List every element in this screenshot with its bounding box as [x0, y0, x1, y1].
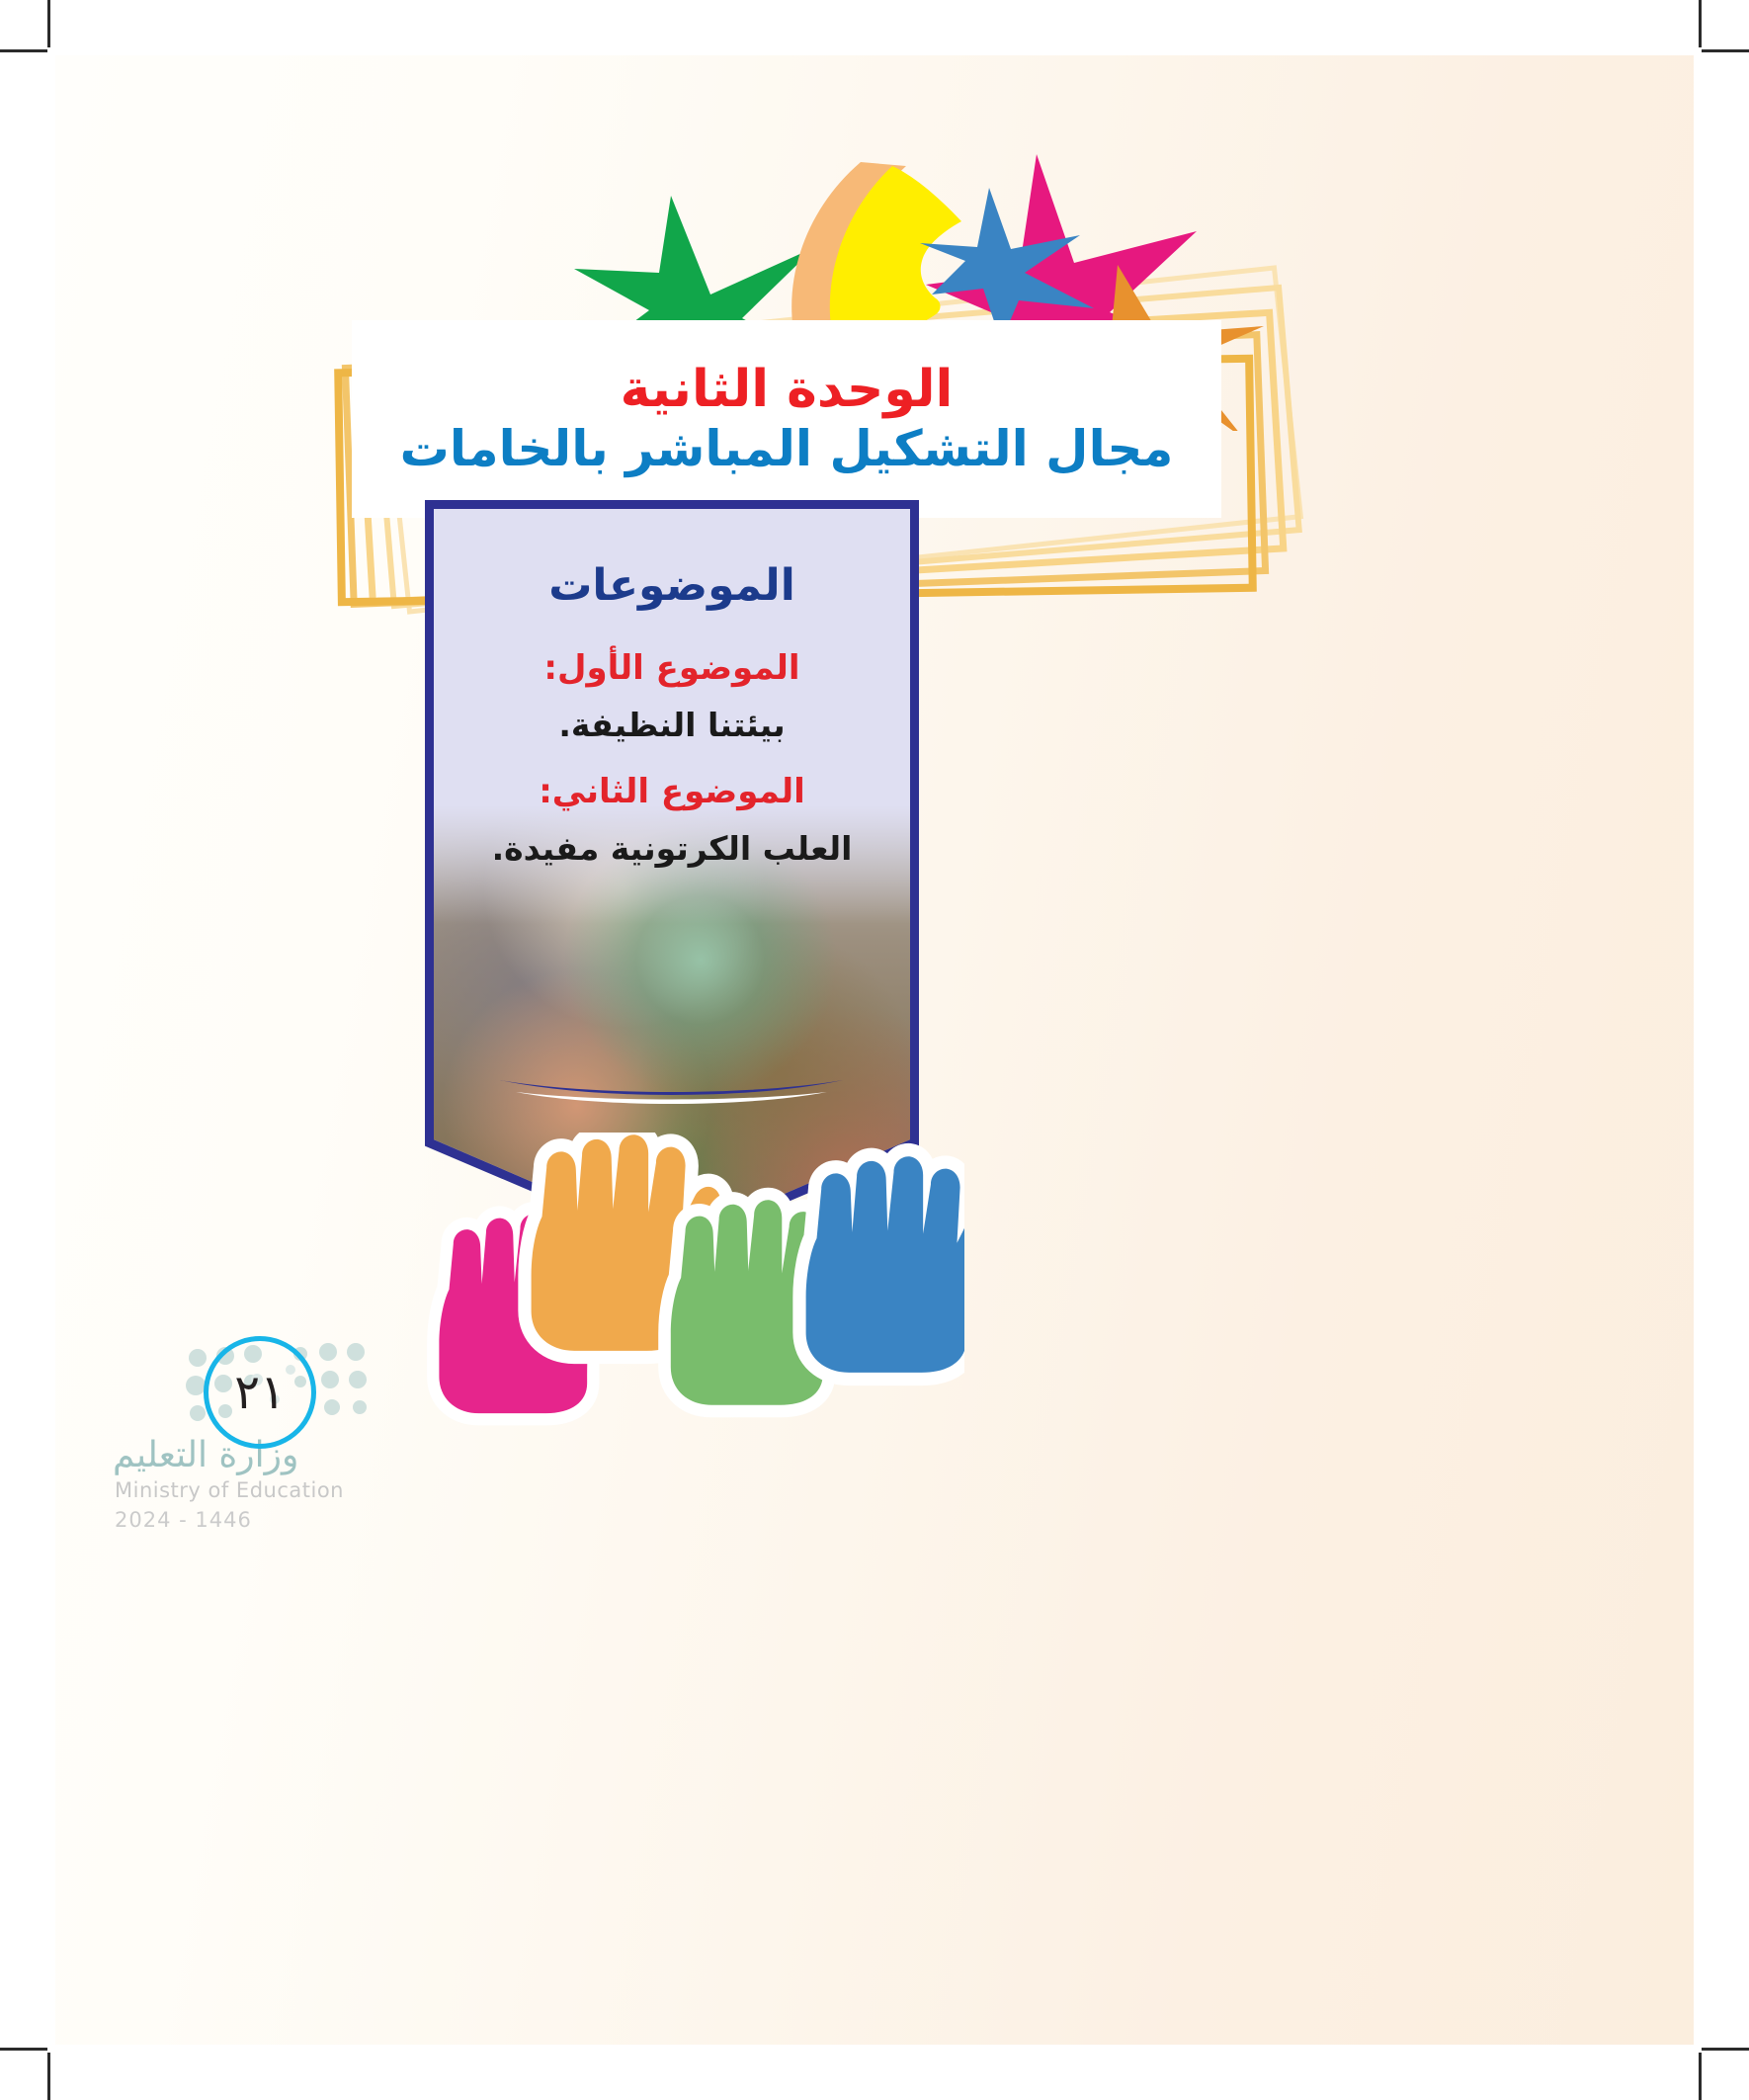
crop-mark-bottom-right-horizontal [1702, 2048, 1749, 2051]
hand-blue-icon [806, 1156, 964, 1373]
topic-1-label: الموضوع الأول: [467, 648, 876, 688]
page-sheet: الوحدة الثانية مجال التشكيل المباشر بالخ… [55, 55, 1694, 2045]
colored-hands-decoration [411, 1133, 964, 1459]
unit-subtitle: مجال التشكيل المباشر بالخامات [400, 423, 1174, 475]
page-number: ٢١ [234, 1369, 286, 1416]
crop-mark-top-right-vertical [1699, 0, 1702, 47]
topics-card-text: الموضوعات الموضوع الأول: بيئتنا النظيفة.… [434, 509, 910, 868]
ministry-name-english: Ministry of Education [115, 1478, 344, 1502]
crop-mark-bottom-left-vertical [47, 2053, 50, 2100]
unit-banner: الوحدة الثانية مجال التشكيل المباشر بالخ… [352, 320, 1221, 518]
topic-2-label: الموضوع الثاني: [467, 772, 876, 811]
page-number-badge: ٢١ [204, 1336, 316, 1449]
unit-title: الوحدة الثانية [621, 363, 954, 417]
ministry-year: 2024 - 1446 [115, 1508, 252, 1532]
crop-mark-top-left-horizontal [0, 49, 47, 52]
ministry-footer: ٢١ وزارة التعليم Ministry of Education 2… [107, 1330, 433, 1548]
crop-mark-top-right-horizontal [1702, 49, 1749, 52]
crop-mark-bottom-left-horizontal [0, 2048, 47, 2051]
topic-1-value: بيئتنا النظيفة. [467, 706, 876, 744]
crop-mark-top-left-vertical [47, 0, 50, 47]
topic-2-value: العلب الكرتونية مفيدة. [467, 829, 876, 868]
blue-swoosh-icon [500, 1078, 843, 1112]
topics-heading: الموضوعات [467, 560, 876, 611]
crop-mark-bottom-right-vertical [1699, 2053, 1702, 2100]
